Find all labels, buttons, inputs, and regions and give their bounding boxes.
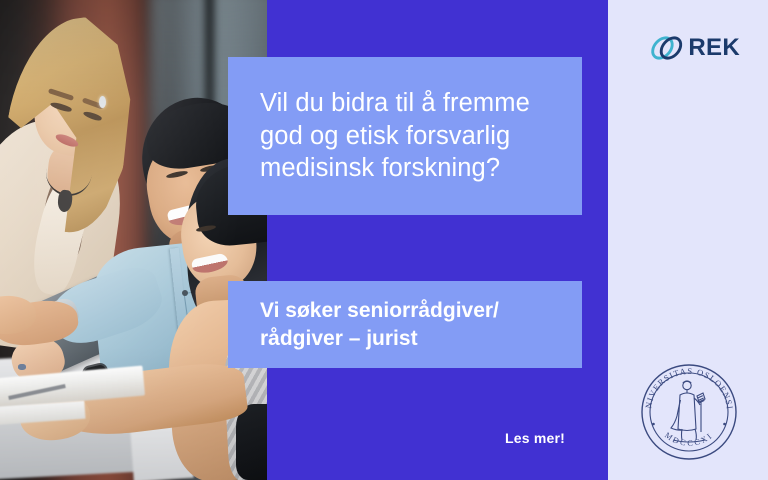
- headline-text: Vil du bidra til å fremme god og etisk f…: [260, 87, 530, 185]
- uio-seal[interactable]: UNIVERSITAS OSLOENSIS MDCCCXI: [639, 362, 739, 462]
- uio-seal-figure: [671, 381, 705, 442]
- rek-logo[interactable]: REK: [648, 26, 740, 70]
- rek-wordmark: REK: [688, 36, 740, 60]
- team-photo-illustration: [0, 0, 267, 480]
- interlocking-rings-icon: [648, 27, 685, 69]
- photo-person-one-earring: [99, 96, 106, 108]
- photo-person-two-shirt-button: [182, 290, 188, 296]
- job-title-text: Vi søker seniorrådgiver/ rådgiver – juri…: [260, 297, 499, 352]
- recruitment-banner[interactable]: Vil du bidra til å fremme god og etisk f…: [0, 0, 768, 480]
- headline-box: Vil du bidra til å fremme god og etisk f…: [228, 57, 582, 215]
- uio-seal-bottom-text: MDCCCXI: [663, 431, 715, 448]
- uio-seal-graphic: UNIVERSITAS OSLOENSIS MDCCCXI: [639, 362, 739, 462]
- read-more-link[interactable]: Les mer!: [505, 430, 565, 446]
- photo-person-three-lower: [236, 404, 267, 480]
- team-photo: [0, 0, 267, 480]
- job-title-box: Vi søker seniorrådgiver/ rådgiver – juri…: [228, 281, 582, 368]
- photo-person-one-ring: [18, 364, 26, 370]
